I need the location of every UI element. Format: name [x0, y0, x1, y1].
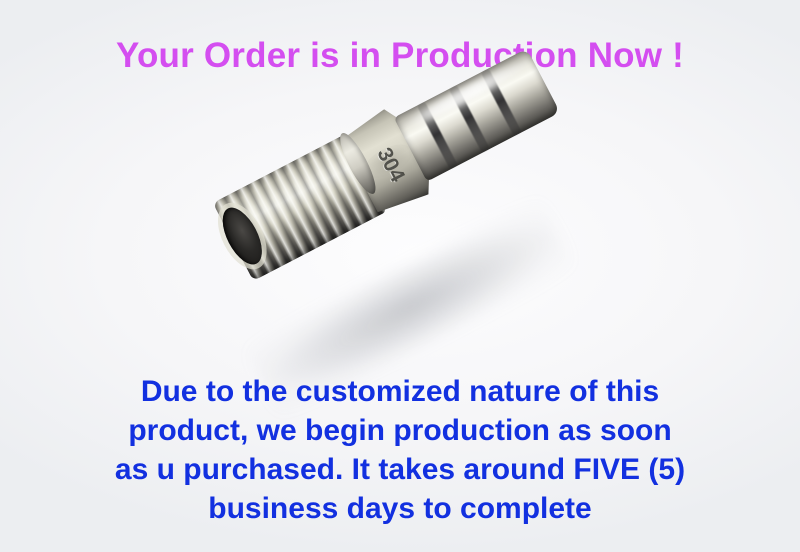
body-line: business days to complete: [0, 489, 800, 528]
headline-text: Your Order is in Production Now !: [0, 36, 800, 76]
body-line: Due to the customized nature of this: [0, 372, 800, 411]
body-line: as u purchased. It takes around FIVE (5): [0, 450, 800, 489]
promo-banner: Your Order is in Production Now ! 304 Du…: [0, 0, 800, 552]
body-line: product, we begin production as soon: [0, 411, 800, 450]
product-photo: 304: [215, 140, 595, 370]
body-message: Due to the customized nature of this pro…: [0, 372, 800, 528]
